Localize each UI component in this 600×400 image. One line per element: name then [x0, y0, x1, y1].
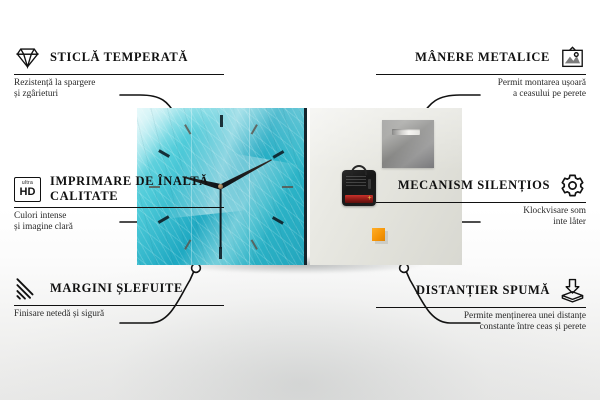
battery: +: [345, 195, 373, 203]
callout-manere-metalice: MÂNERE METALICE Permit montarea ușoară a…: [376, 44, 586, 101]
picture-hanger-icon: [559, 44, 586, 71]
callout-distantier-spuma: DISTANȚIER SPUMĂ Permite menținerea unei…: [376, 277, 586, 334]
callout-imprimare-inalta-calitate: ultra HD IMPRIMARE DE ÎNALTĂ CALITATE Cu…: [14, 174, 224, 234]
callout-rule: [376, 74, 586, 75]
foam-spacer: [372, 228, 385, 241]
callout-rule: [14, 305, 224, 306]
callout-title: MÂNERE METALICE: [415, 50, 550, 65]
callout-title: MARGINI ȘLEFUITE: [50, 281, 183, 296]
battery-polarity-label: +: [367, 195, 372, 203]
polished-edge-icon: [14, 275, 41, 302]
diamond-icon: [14, 44, 41, 71]
callout-head: MÂNERE METALICE: [376, 44, 586, 71]
ultra-hd-badge-icon: ultra HD: [14, 177, 41, 202]
callout-description: Finisare netedă și sigură: [14, 309, 224, 320]
mechanism-label: [346, 176, 366, 188]
hd-badge-ultra-text: ultra: [22, 181, 33, 186]
callout-rule: [376, 307, 586, 308]
clock-mechanism: +: [342, 170, 376, 206]
callout-head: ultra HD IMPRIMARE DE ÎNALTĂ CALITATE: [14, 174, 224, 204]
callout-title: MECANISM SILENȚIOS: [398, 178, 550, 193]
callout-description: Klockvisare som inte låter: [376, 206, 586, 229]
callout-rule: [14, 207, 224, 208]
metal-hanger-plate: [382, 120, 434, 168]
callout-title: IMPRIMARE DE ÎNALTĂ CALITATE: [50, 174, 224, 204]
callout-head: DISTANȚIER SPUMĂ: [376, 277, 586, 304]
hanger-slot: [392, 129, 420, 135]
callout-margini-slefuite: MARGINI ȘLEFUITE Finisare netedă și sigu…: [14, 275, 224, 320]
hd-badge-hd-text: HD: [20, 187, 36, 198]
callout-description: Culori intense și imagine clară: [14, 211, 224, 234]
arrow-down-stack-icon: [559, 277, 586, 304]
callout-sticla-temperata: STICLĂ TEMPERATĂ Rezistență la spargere …: [14, 44, 224, 101]
callout-title: STICLĂ TEMPERATĂ: [50, 50, 188, 65]
callout-description: Rezistență la spargere și zgârieturi: [14, 78, 224, 101]
gear-icon: [559, 172, 586, 199]
callout-head: MECANISM SILENȚIOS: [376, 172, 586, 199]
mechanism-hook: [351, 165, 367, 175]
callout-rule: [376, 202, 586, 203]
infographic-canvas: + STICLĂ TEMPERATĂ Rezistență la sparger…: [0, 0, 600, 400]
callout-mecanism-silentios: MECANISM SILENȚIOS Klockvisare som inte …: [376, 172, 586, 229]
callout-description: Permite menținerea unei distanțe constan…: [376, 311, 586, 334]
callout-rule: [14, 74, 224, 75]
glass-seam-right: [249, 108, 250, 265]
callout-description: Permit montarea ușoară a ceasului pe per…: [376, 78, 586, 101]
mechanism-shaft: [368, 179, 371, 189]
callout-head: MARGINI ȘLEFUITE: [14, 275, 224, 302]
callout-title: DISTANȚIER SPUMĂ: [416, 283, 550, 298]
callout-head: STICLĂ TEMPERATĂ: [14, 44, 224, 71]
